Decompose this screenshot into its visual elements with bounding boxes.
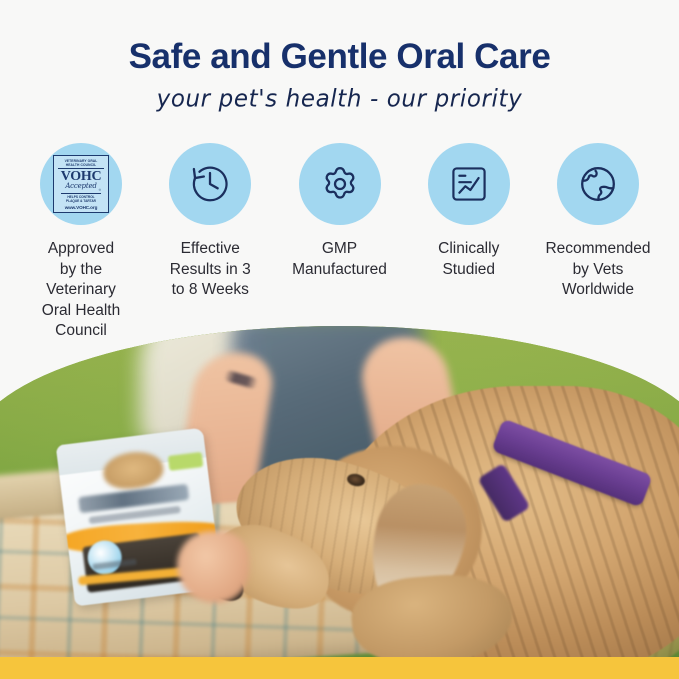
badge-circle — [428, 143, 510, 225]
badge-circle — [299, 143, 381, 225]
feature-item-vohc: VETERINARY ORAL HEALTH COUNCIL VOHC Acce… — [22, 143, 140, 342]
badge-circle — [169, 143, 251, 225]
vohc-top-line: VETERINARY ORAL HEALTH COUNCIL — [58, 159, 104, 170]
feature-label: GMP Manufactured — [292, 239, 387, 280]
vohc-accepted-text: Accepted — [65, 183, 96, 190]
feature-item-clinically-studied: Clinically Studied — [410, 143, 528, 342]
feature-item-vet-recommended: Recommended by Vets Worldwide — [539, 143, 657, 342]
feature-item-effective-results: Effective Results in 3 to 8 Weeks — [151, 143, 269, 342]
photo-arch-mask — [0, 326, 679, 658]
header: Safe and Gentle Oral Care your pet's hea… — [0, 0, 679, 112]
page-title: Safe and Gentle Oral Care — [0, 38, 679, 77]
vohc-seal-icon: VETERINARY ORAL HEALTH COUNCIL VOHC Acce… — [53, 155, 109, 213]
feature-label: Recommended by Vets Worldwide — [545, 239, 650, 301]
gear-icon — [317, 161, 363, 207]
chart-square-icon — [447, 162, 491, 206]
badge-circle — [557, 143, 639, 225]
vohc-url-text: www.VOHC.org — [65, 206, 98, 211]
hero-photo — [0, 326, 679, 658]
badge-circle: VETERINARY ORAL HEALTH COUNCIL VOHC Acce… — [40, 143, 122, 225]
feature-item-gmp: GMP Manufactured — [281, 143, 399, 342]
vohc-sub-line: HELPS CONTROL PLAQUE & TARTAR — [61, 193, 101, 204]
product-infographic-page: Safe and Gentle Oral Care your pet's hea… — [0, 0, 679, 679]
photo-scene — [0, 326, 679, 658]
page-subtitle: your pet's health - our priority — [0, 85, 679, 112]
feature-label: Clinically Studied — [438, 239, 499, 280]
bottom-accent-bar — [0, 657, 679, 679]
feature-list: VETERINARY ORAL HEALTH COUNCIL VOHC Acce… — [0, 143, 679, 342]
feature-label: Effective Results in 3 to 8 Weeks — [170, 239, 251, 301]
bag-green-tab — [168, 452, 204, 471]
person-left-hand — [177, 531, 249, 603]
globe-icon — [575, 161, 621, 207]
clock-history-icon — [187, 161, 233, 207]
